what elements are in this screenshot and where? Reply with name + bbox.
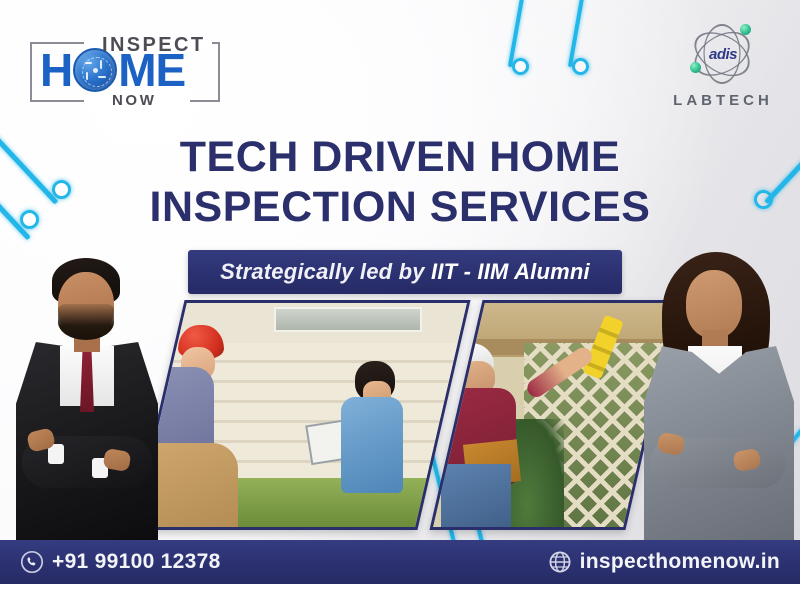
house-window: [274, 307, 422, 332]
atom-icon: adis: [684, 22, 762, 88]
logo-now-word: NOW: [112, 92, 156, 109]
circuit-dot: [572, 58, 589, 75]
circuit-decor-top-center: [500, 0, 610, 106]
page-title: TECH DRIVEN HOME INSPECTION SERVICES: [0, 132, 800, 232]
photo-content: [133, 303, 469, 527]
partner-logo[interactable]: adis LABTECH: [668, 22, 778, 122]
headline-line-2: INSPECTION SERVICES: [0, 182, 800, 232]
website-url: inspecthomenow.in: [580, 550, 780, 574]
bottom-white-strip: [0, 584, 800, 600]
circuit-line: [568, 0, 584, 67]
phone-contact[interactable]: +91 99100 12378: [20, 550, 221, 574]
atom-node: [740, 24, 751, 35]
whatsapp-icon: [20, 550, 44, 574]
subtitle-prefix: Strategically led by: [220, 259, 431, 284]
businessman-portrait: [0, 254, 168, 544]
inspector-legs: [441, 464, 511, 527]
headline-line-1: TECH DRIVEN HOME: [0, 132, 800, 182]
photo-scene: [133, 303, 469, 527]
company-logo[interactable]: INSPECT H ME NOW: [24, 28, 226, 114]
partner-logo-name: LABTECH: [668, 92, 778, 109]
logo-letter-h: H: [40, 49, 72, 91]
assistant-figure: [335, 361, 436, 527]
promotional-banner: INSPECT H ME NOW adis LABTECH TECH D: [0, 0, 800, 600]
assistant-torso: [341, 397, 403, 493]
phone-number: +91 99100 12378: [52, 550, 221, 574]
globe-icon: [548, 550, 572, 574]
face: [686, 270, 742, 338]
logo-inspect-word: INSPECT: [102, 34, 205, 57]
businesswoman-portrait: [624, 250, 800, 544]
circuit-dot: [512, 58, 529, 75]
contact-bar: +91 99100 12378 inspecthomenow.in: [0, 540, 800, 584]
subtitle-emphasis: IIT - IIM Alumni: [431, 259, 590, 284]
subtitle-text: Strategically led by IIT - IIM Alumni: [220, 259, 590, 285]
beard: [58, 304, 114, 340]
partner-mark-text: adis: [709, 46, 737, 63]
website-contact[interactable]: inspecthomenow.in: [548, 550, 780, 574]
atom-node: [690, 62, 701, 73]
subtitle-banner: Strategically led by IIT - IIM Alumni: [188, 250, 622, 294]
circuit-line: [508, 0, 524, 67]
siding-inspection-photo: [131, 300, 470, 530]
